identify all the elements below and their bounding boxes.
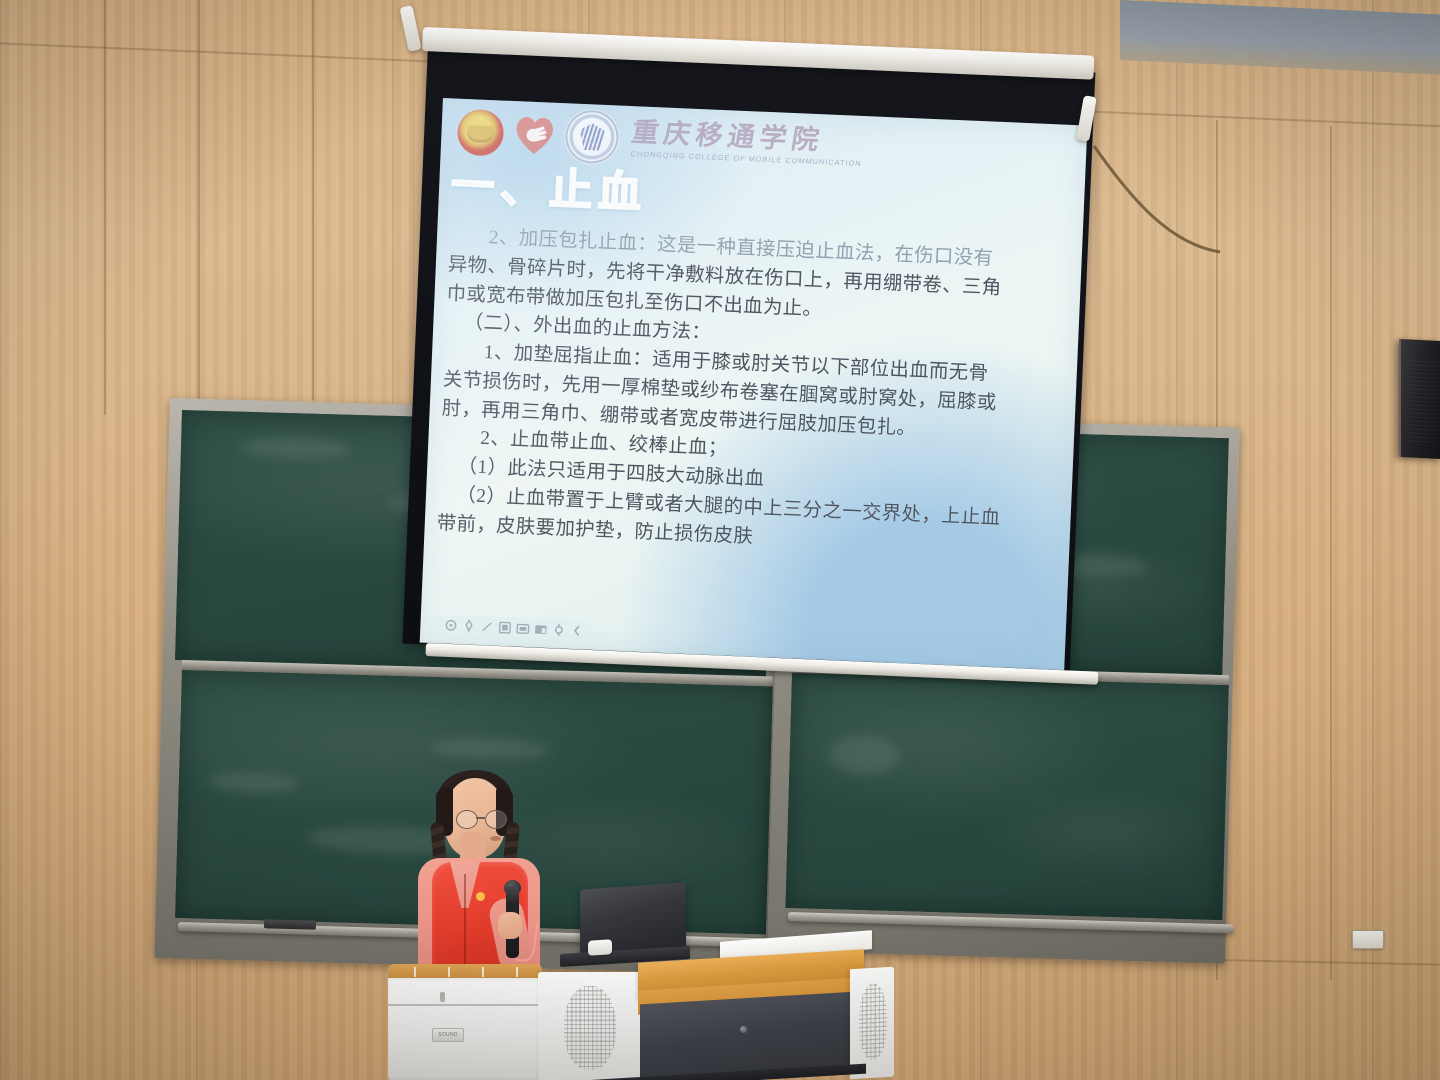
highlighter-icon[interactable] [461,618,477,634]
presentation-toolbar[interactable] [436,614,592,642]
wall-seam-vertical [1330,126,1332,980]
wall-seam-vertical [312,0,314,400]
lectern-lock-icon[interactable] [740,1026,747,1033]
university-seal-icon [564,109,619,164]
presentation-slide: 重庆移通学院 CHONGQING COLLEGE OF MOBILE COMMU… [420,98,1088,670]
wall-outlet-plate[interactable] [1352,930,1384,949]
zoom-slide-icon[interactable] [515,621,531,637]
wall-seam-vertical [198,0,200,420]
speaker-grille-icon [859,983,887,1061]
black-screen-icon[interactable] [533,621,549,637]
more-options-icon[interactable] [569,623,585,639]
lectern-drawer-knob[interactable] [440,992,445,1002]
glasses-icon [456,810,506,827]
speaker-grille-icon [564,986,616,1070]
wall-speaker-icon [1399,339,1440,459]
national-emblem-icon [457,108,505,156]
lectern-speaker-panel-left [538,972,643,1080]
laser-pointer-icon[interactable] [443,618,459,634]
blackboard-panel-lower-right [785,673,1228,920]
slide-body-text: 2、加压包扎止血：这是一种直接压迫止血法，在伤口没有异物、骨碎片时，先将干净敷料… [436,222,1072,565]
wireless-mouse-icon[interactable] [588,939,612,955]
institution-name: 重庆移通学院 CHONGQING COLLEGE OF MOBILE COMMU… [631,119,864,168]
wall-seam-vertical [104,0,106,415]
blackboard-eraser[interactable] [264,919,316,929]
pen-icon[interactable] [479,619,495,635]
heart-hand-icon [512,113,558,157]
vest-badge-icon [476,892,485,901]
lectern-left-cabinet[interactable] [388,978,542,1080]
lectern: SOUND [388,932,908,1080]
mouth [490,836,501,841]
lecture-hall-scene: 重庆移通学院 CHONGQING COLLEGE OF MOBILE COMMU… [0,0,1440,1080]
lectern-speaker-panel-right [850,967,894,1080]
lectern-drawer-seam [388,1004,542,1006]
slide-overview-icon[interactable] [497,620,513,636]
lectern-nameplate: SOUND [432,1028,464,1042]
settings-icon[interactable] [551,622,567,638]
slide-title: 一、止血 [450,164,648,215]
